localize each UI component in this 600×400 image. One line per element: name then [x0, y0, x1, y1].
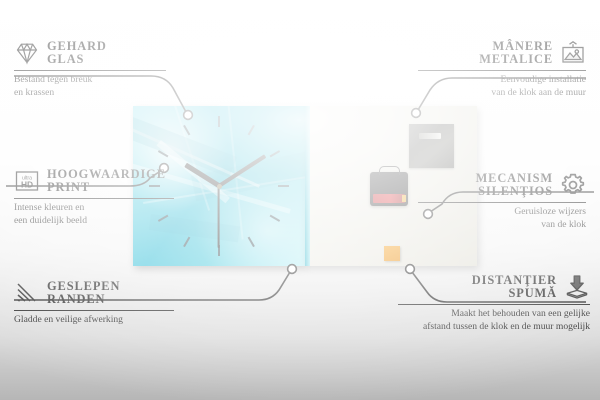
- feature-title-line2: METALICE: [479, 53, 553, 66]
- divider: [418, 202, 586, 203]
- feature-hoogwaardige-print[interactable]: ultra HD HOOGWAARDIGE PRINT Intense kleu…: [14, 168, 174, 228]
- feature-description: Eenvoudige installatie van de klok aan d…: [418, 74, 586, 99]
- feature-description: Gladde en veilige afwerking: [14, 314, 174, 327]
- divider: [14, 70, 166, 71]
- battery: [373, 194, 405, 203]
- feature-distantier-spuma[interactable]: DISTANŢIER SPUMĂ Maakt het behouden van …: [398, 274, 590, 334]
- divider: [14, 198, 174, 199]
- ultra-hd-icon: ultra HD: [14, 168, 40, 194]
- feature-description: Maakt het behouden van een gelijke afsta…: [398, 308, 590, 333]
- feature-title: GEHARD GLAS: [47, 40, 107, 66]
- divider: [398, 304, 590, 305]
- feature-mecanism-silentios[interactable]: MECANISM SILENŢIOS Geruisloze wijzers va…: [418, 172, 586, 232]
- feature-header: ultra HD HOOGWAARDIGE PRINT: [14, 168, 174, 194]
- clock-hour-marker: [218, 116, 220, 186]
- hanger-hook: [379, 166, 400, 175]
- metal-hanger-plate: [409, 124, 454, 168]
- diamond-icon: [14, 40, 40, 66]
- divider: [418, 70, 586, 71]
- feature-header: GEHARD GLAS: [14, 40, 166, 66]
- clock-hour-marker: [219, 185, 289, 187]
- feature-title: MECANISM SILENŢIOS: [476, 172, 553, 198]
- beveled-edges-icon: [14, 280, 40, 306]
- feature-header: MECANISM SILENŢIOS: [418, 172, 586, 198]
- feature-gehard-glas[interactable]: GEHARD GLAS Bestand tegen breuk en krass…: [14, 40, 166, 100]
- feature-header: DISTANŢIER SPUMĂ: [398, 274, 590, 300]
- feature-description: Bestand tegen breuk en krassen: [14, 74, 166, 99]
- feature-title: MÂNERE METALICE: [479, 40, 553, 66]
- feature-title-line2: RANDEN: [47, 293, 120, 306]
- feature-title: HOOGWAARDIGE PRINT: [47, 168, 166, 194]
- clock-center-pin: [217, 184, 222, 189]
- feature-description: Geruisloze wijzers van de klok: [418, 206, 586, 231]
- gear-icon: [560, 172, 586, 198]
- feature-title-line2: SILENŢIOS: [478, 185, 553, 198]
- feature-title-line2: SPUMĂ: [508, 287, 557, 300]
- glass-edge-strip: [305, 106, 310, 266]
- feature-description: Intense kleuren en een duidelijk beeld: [14, 202, 174, 227]
- framed-picture-icon: [560, 40, 586, 66]
- feature-title-line2: GLAS: [47, 53, 107, 66]
- feature-title: GESLEPEN RANDEN: [47, 280, 120, 306]
- foam-spacer: [384, 246, 400, 261]
- divider: [14, 310, 174, 311]
- feature-manere-metalice[interactable]: MÂNERE METALICE Eenvoudige installatie v…: [418, 40, 586, 100]
- feature-title-line2: PRINT: [47, 181, 166, 194]
- foam-spacer-icon: [564, 274, 590, 300]
- feature-title: DISTANŢIER SPUMĂ: [472, 274, 557, 300]
- feature-geslepen-randen[interactable]: GESLEPEN RANDEN Gladde en veilige afwerk…: [14, 280, 174, 327]
- feature-header: GESLEPEN RANDEN: [14, 280, 174, 306]
- feature-header: MÂNERE METALICE: [418, 40, 586, 66]
- infographic-canvas: GEHARD GLAS Bestand tegen breuk en krass…: [0, 0, 600, 400]
- svg-text:HD: HD: [21, 180, 33, 190]
- clock-mechanism: [370, 172, 408, 206]
- clock-second-hand: [218, 186, 220, 248]
